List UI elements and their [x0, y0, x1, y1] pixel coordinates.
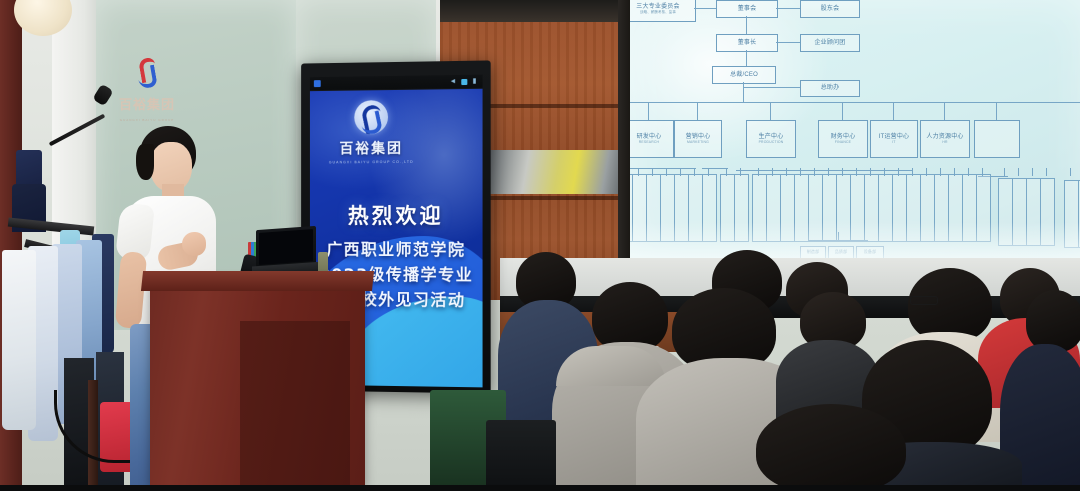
org-node-ceo: 总裁/CEO — [712, 66, 776, 84]
wall-top-shadow — [440, 0, 630, 22]
org-leaf-tick — [828, 168, 829, 176]
org-leaf-tick — [638, 168, 639, 176]
org-link — [776, 8, 800, 9]
brand-name-cn: 百裕集团 — [324, 138, 419, 159]
podium-brand-sub: GUANGXI BAIYU GROUP — [112, 118, 182, 122]
org-leaf-tick — [1046, 168, 1047, 176]
org-leaf-tick — [814, 168, 815, 176]
podium-top-surface — [141, 271, 374, 291]
org-link — [743, 87, 744, 103]
emblem-blue-stroke — [136, 65, 158, 90]
podium-brand-lockup: 百裕集团 GUANGXI BAIYU GROUP — [112, 58, 182, 122]
org-leaf-tick — [726, 168, 727, 176]
org-leaf-tick — [800, 168, 801, 176]
projection-fade — [630, 222, 1080, 262]
app-icon[interactable] — [314, 80, 321, 87]
org-leaf-tick — [842, 168, 843, 176]
audience-head-glasses — [908, 268, 992, 342]
org-leaf-tick — [740, 168, 741, 176]
org-node-center-2: 营销中心 MARKETING — [674, 120, 722, 158]
org-link — [697, 102, 698, 120]
projected-org-chart: 三大专业委员会 战略、薪酬考核、监事 董事会 股东会 董事长 企业顾问团 总裁/… — [630, 0, 1080, 262]
podium — [150, 283, 365, 491]
back-icon[interactable]: ◄ — [449, 78, 456, 85]
org-node-shareholders: 股东会 — [800, 0, 860, 18]
org-leaf-tick — [898, 168, 899, 176]
home-icon[interactable] — [461, 78, 467, 84]
org-leaf-tick — [912, 168, 913, 176]
org-leaf-tick — [708, 168, 709, 176]
eyeglasses — [910, 296, 938, 305]
org-leaf-tick — [954, 168, 955, 176]
org-rail — [736, 170, 912, 171]
org-link — [842, 102, 843, 120]
org-node-chairman: 董事长 — [716, 34, 778, 52]
org-node-center-4: 财务中心 FINANCE — [818, 120, 868, 158]
presenter-hair-side — [136, 144, 154, 180]
org-node-board: 董事会 — [716, 0, 778, 18]
podium-brand-name: 百裕集团 — [112, 94, 182, 113]
org-node-center-6: 人力资源中心 HR — [920, 120, 970, 158]
org-leaf-tick — [1004, 168, 1005, 176]
org-node-center-7 — [974, 120, 1020, 158]
org-rail — [702, 168, 728, 169]
org-leaf-tick — [968, 168, 969, 176]
org-link — [694, 8, 716, 9]
chair-dark — [486, 420, 556, 491]
garment-white — [2, 250, 36, 430]
baiyu-swirl-emblem — [134, 58, 160, 86]
org-leaf-tick — [1070, 168, 1071, 176]
brand-lockup: 百裕集团 GUANGXI BAIYU GROUP CO.,LTD — [324, 100, 419, 165]
menu-icon[interactable]: ▮ — [473, 78, 477, 85]
laptop-screen — [259, 229, 313, 265]
org-leaf-tick — [1018, 168, 1019, 176]
org-node-assistant: 总助办 — [800, 80, 860, 97]
org-node-center-1: 研发中心 RESEARCH — [630, 120, 674, 158]
org-node-advisors: 企业顾问团 — [800, 34, 860, 52]
org-rail — [630, 168, 696, 169]
org-leaf-tick — [666, 168, 667, 176]
audience-head-front-3 — [756, 404, 906, 491]
org-leaf-tick — [758, 168, 759, 176]
org-leaf-tick — [680, 168, 681, 176]
presenter-hand — [182, 232, 206, 256]
org-leaf-tick — [786, 168, 787, 176]
baiyu-swirl-emblem — [354, 100, 388, 134]
org-leaf-tick — [772, 168, 773, 176]
org-leaf-tick — [870, 168, 871, 176]
org-leaf-tick — [926, 168, 927, 176]
slide-headline: 热烈欢迎 — [310, 200, 483, 230]
org-leaf-tick — [652, 168, 653, 176]
podium-front-face — [240, 321, 350, 491]
org-link — [776, 42, 800, 43]
brand-name-pinyin: GUANGXI BAIYU GROUP CO.,LTD — [324, 160, 419, 165]
audience-head — [1026, 290, 1080, 352]
org-node-committees: 三大专业委员会 战略、薪酬考核、监事 — [630, 0, 696, 22]
org-leaf-tick — [1032, 168, 1033, 176]
org-leaf-tick — [856, 168, 857, 176]
slide-line-1: 广西职业师范学院 — [310, 238, 483, 263]
org-link — [648, 102, 649, 120]
org-link — [743, 87, 800, 88]
photo-bottom-edge — [0, 485, 1080, 491]
org-link — [893, 102, 894, 120]
org-link — [996, 102, 997, 120]
org-leaf-tick — [884, 168, 885, 176]
org-node-center-3: 生产中心 PRODUCTION — [746, 120, 796, 158]
display-toolbar[interactable]: ◄ ▮ — [310, 75, 483, 90]
org-leaf-tick — [694, 168, 695, 176]
event-photo-scene: 三大专业委员会 战略、薪酬考核、监事 董事会 股东会 董事长 企业顾问团 总裁/… — [0, 0, 1080, 491]
org-link — [746, 50, 747, 66]
toolbar-right-group[interactable]: ◄ ▮ — [449, 78, 476, 85]
org-link — [944, 102, 945, 120]
org-leaf-tick — [982, 168, 983, 176]
org-link — [746, 16, 747, 34]
org-link — [770, 102, 771, 120]
org-leaf-tick — [940, 168, 941, 176]
org-node-center-5: IT运营中心 IT — [870, 120, 918, 158]
